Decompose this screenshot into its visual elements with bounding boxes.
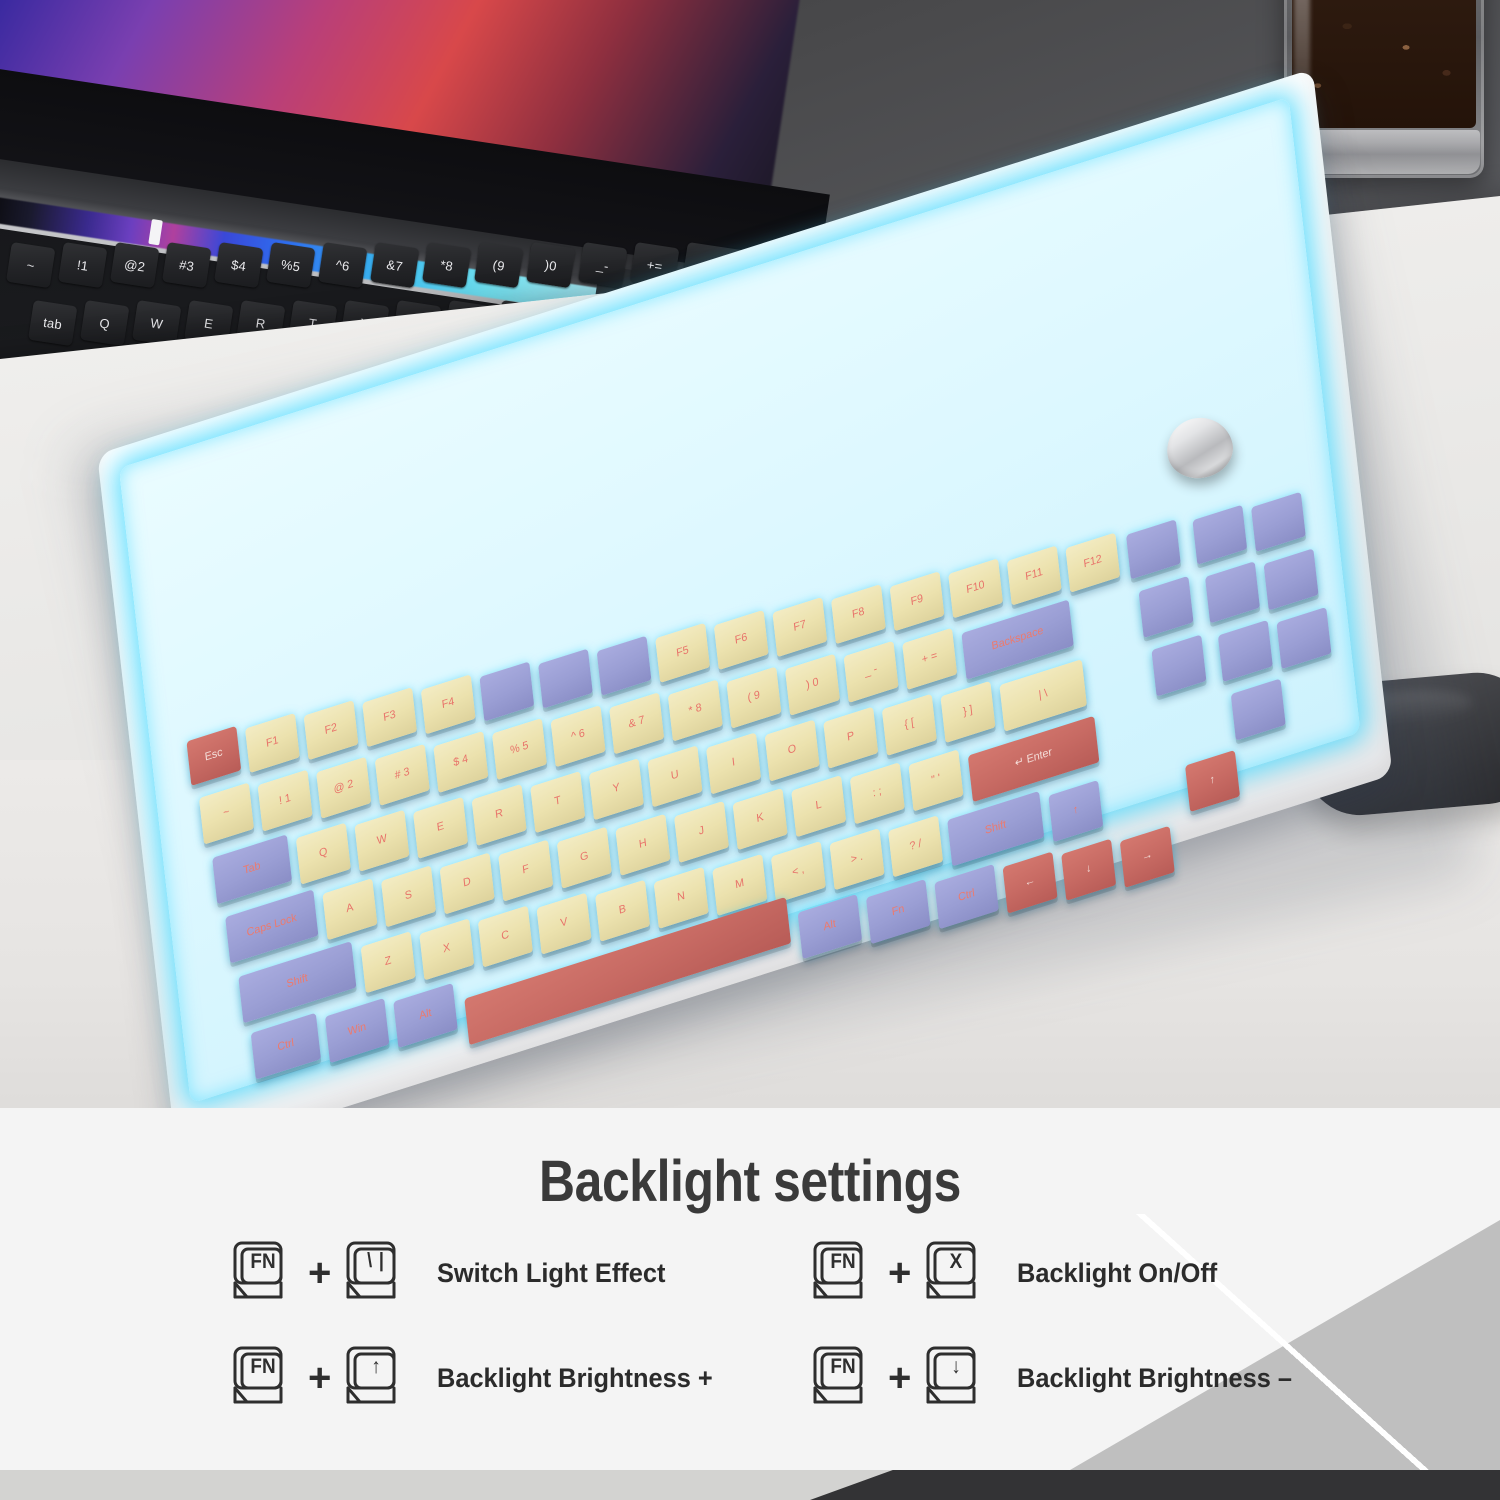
keycap-legend: R bbox=[495, 808, 504, 822]
shortcut-label-brightness-up: Backlight Brightness + bbox=[437, 1363, 713, 1394]
keycap-legend: Alt bbox=[823, 919, 837, 935]
laptop-key-label: E bbox=[203, 315, 214, 331]
keycap-legend: Ctrl bbox=[277, 1038, 295, 1055]
keycap-legend: $ 4 bbox=[453, 754, 469, 770]
x-keycap-icon[interactable]: X bbox=[925, 1240, 987, 1306]
keycap-legend: F1 bbox=[266, 735, 280, 751]
fn-keycap-icon[interactable]: FN bbox=[232, 1345, 294, 1411]
arrow-down-keycap-icon[interactable]: ↓ bbox=[925, 1345, 987, 1411]
plus-separator: + bbox=[308, 1253, 331, 1293]
keycap-legend: ! 1 bbox=[279, 793, 292, 808]
laptop-key-label: R bbox=[255, 315, 267, 331]
backslash-keycap-icon[interactable]: \ | bbox=[345, 1240, 407, 1306]
shortcut-row-brightness-up: FN + ↑ Backlight Brightness + bbox=[232, 1345, 731, 1411]
laptop-key[interactable]: $4 bbox=[214, 242, 263, 288]
keycap-legend: Q bbox=[319, 846, 329, 860]
keycap-legend: _ - bbox=[864, 664, 878, 680]
keycap-legend: ? / bbox=[909, 839, 922, 854]
shortcut-row-backlight-on-off: FN + X Backlight On/Off bbox=[812, 1240, 1230, 1306]
keycap-legend: Tab bbox=[243, 861, 261, 878]
keycap-legend: ↵ Enter bbox=[1014, 747, 1052, 770]
keycap-legend: A bbox=[346, 902, 354, 916]
laptop-key-label: @2 bbox=[123, 256, 146, 274]
laptop-key-label: $4 bbox=[230, 257, 247, 274]
laptop-key-label: &7 bbox=[386, 256, 404, 273]
keycap-legend: Ctrl bbox=[958, 888, 976, 905]
keycap-legend: Z bbox=[384, 955, 392, 969]
keycap-legend: P bbox=[847, 731, 855, 745]
fn-keycap-icon[interactable]: FN bbox=[232, 1240, 294, 1306]
keycap-legend: → bbox=[1141, 849, 1153, 864]
shortcut-label-switch-light-effect: Switch Light Effect bbox=[437, 1258, 665, 1289]
laptop-key[interactable]: *8 bbox=[422, 242, 471, 288]
keycap-legend: F3 bbox=[383, 709, 397, 725]
keycap-legend: | \ bbox=[1038, 688, 1048, 702]
keycap-legend: Alt bbox=[419, 1008, 433, 1024]
laptop-key-label: += bbox=[646, 256, 664, 273]
keycap-legend: X bbox=[443, 942, 451, 956]
keycap-legend: D bbox=[463, 876, 472, 890]
laptop-key[interactable]: (9 bbox=[474, 242, 523, 288]
keycap-legend: @ 2 bbox=[333, 779, 354, 797]
keycap-legend: V bbox=[560, 917, 568, 931]
keycap-legend: ^ 6 bbox=[571, 728, 586, 744]
laptop-key[interactable]: ^6 bbox=[318, 242, 367, 288]
keycap-legend: T bbox=[554, 795, 562, 809]
laptop-key[interactable]: Q bbox=[80, 300, 129, 346]
keycap-legend: ↑ bbox=[1209, 774, 1216, 787]
keycap-legend: F bbox=[522, 864, 530, 878]
laptop-key[interactable]: !1 bbox=[58, 242, 107, 288]
keycap-legend: ↑ bbox=[1072, 804, 1079, 817]
keycap-legend: " ' bbox=[931, 773, 941, 787]
shortcut-row-brightness-down: FN + ↓ Backlight Brightness – bbox=[812, 1345, 1310, 1411]
keycap-legend: Y bbox=[612, 782, 620, 796]
backlight-settings-panel: Backlight settings FN + \ | Switch Light… bbox=[0, 1108, 1500, 1500]
laptop-key-label: !1 bbox=[76, 257, 89, 274]
keycap-legend: B bbox=[618, 904, 626, 918]
fn-keycap-label: FN bbox=[235, 1250, 291, 1274]
keycap-legend: K bbox=[756, 812, 764, 826]
keycap-legend: # 3 bbox=[394, 767, 410, 783]
keycap-legend: F11 bbox=[1025, 567, 1044, 584]
keycap-legend: ↓ bbox=[1085, 863, 1092, 876]
keycap-legend: } ] bbox=[963, 705, 974, 720]
bottom-dark-bar bbox=[810, 1470, 1500, 1500]
laptop-key-label: %5 bbox=[280, 256, 301, 274]
laptop-key[interactable]: %5 bbox=[266, 242, 315, 288]
keycap-legend: ) 0 bbox=[806, 677, 820, 693]
keycap-legend: Fn bbox=[891, 904, 905, 920]
laptop-key-label: ^6 bbox=[335, 257, 351, 274]
plus-separator: + bbox=[888, 1358, 911, 1398]
keycap-legend: ( 9 bbox=[747, 690, 761, 706]
laptop-key-label: _- bbox=[596, 257, 610, 274]
keycap-legend: Shift bbox=[984, 819, 1006, 837]
keycap-legend: O bbox=[787, 743, 797, 757]
keycap-legend: W bbox=[376, 833, 387, 848]
keycap-legend: E bbox=[436, 821, 444, 835]
keycap-legend: I bbox=[731, 757, 735, 770]
plus-separator: + bbox=[888, 1253, 911, 1293]
keycap-legend: { [ bbox=[904, 717, 915, 732]
keycap-legend: + = bbox=[921, 651, 938, 667]
laptop-key-label: )0 bbox=[544, 257, 558, 274]
keycap-legend: F4 bbox=[441, 697, 455, 713]
keycap-legend: S bbox=[404, 889, 412, 903]
keycap-legend: Caps Lock bbox=[246, 913, 297, 940]
keycap-legend: > . bbox=[850, 851, 863, 866]
keycap-legend: F6 bbox=[734, 632, 748, 648]
keycap-legend: G bbox=[580, 851, 590, 865]
laptop-key-label: Q bbox=[99, 315, 111, 331]
keycap-legend: ~ bbox=[223, 807, 230, 821]
laptop-key[interactable]: &7 bbox=[370, 242, 419, 288]
keycap-legend: Esc bbox=[204, 747, 223, 764]
keycap-legend: J bbox=[698, 825, 705, 838]
keycap-legend: Win bbox=[347, 1022, 366, 1039]
laptop-key-label: #3 bbox=[178, 257, 195, 274]
keycap-legend: F8 bbox=[852, 606, 866, 622]
x-keycap-label: X bbox=[928, 1250, 984, 1274]
keycap-legend: < , bbox=[792, 864, 805, 879]
keycap-legend: : ; bbox=[872, 786, 882, 800]
keycap-legend: H bbox=[638, 838, 647, 852]
laptop-key[interactable]: tab bbox=[28, 300, 77, 346]
keycap-legend: C bbox=[501, 929, 510, 943]
fn-keycap-label: FN bbox=[235, 1355, 291, 1379]
fn-keycap-icon[interactable]: FN bbox=[812, 1240, 874, 1306]
laptop-key[interactable]: )0 bbox=[526, 242, 575, 288]
arrow-up-keycap-label: ↑ bbox=[348, 1355, 404, 1379]
keycap-legend: Shift bbox=[286, 973, 308, 991]
laptop-key-label: *8 bbox=[439, 257, 454, 274]
plus-separator: + bbox=[308, 1358, 331, 1398]
laptop-key-label: tab bbox=[42, 314, 63, 332]
shortcut-label-brightness-down: Backlight Brightness – bbox=[1017, 1363, 1292, 1394]
keycap-legend: M bbox=[735, 878, 745, 892]
keycap-legend: F7 bbox=[793, 619, 807, 635]
laptop-key[interactable]: @2 bbox=[110, 242, 159, 288]
keycap-legend: Backspace bbox=[991, 626, 1044, 654]
keycap-legend: ← bbox=[1024, 875, 1036, 890]
keyboard-product-photo: ~!1@2#3$4%5^6&7*8(9)0_-+=deletetabQWERTY… bbox=[0, 0, 1500, 1108]
keycap-legend: F2 bbox=[324, 722, 338, 738]
arrow-up-keycap-icon[interactable]: ↑ bbox=[345, 1345, 407, 1411]
coffee-grounds bbox=[1292, 0, 1476, 128]
product-image-root: ~!1@2#3$4%5^6&7*8(9)0_-+=deletetabQWERTY… bbox=[0, 0, 1500, 1500]
laptop-key-label: ~ bbox=[26, 257, 36, 273]
page-title: Backlight settings bbox=[105, 1148, 1395, 1215]
keycap-legend: % 5 bbox=[510, 740, 529, 757]
keycap-legend: F5 bbox=[676, 645, 690, 661]
keycap-legend: * 8 bbox=[688, 703, 702, 719]
arrow-down-keycap-label: ↓ bbox=[928, 1355, 984, 1379]
laptop-key[interactable]: #3 bbox=[162, 242, 211, 288]
keycap-legend: F9 bbox=[910, 593, 924, 609]
keycap-legend: F12 bbox=[1083, 554, 1102, 571]
keycap-legend: & 7 bbox=[628, 715, 645, 732]
keycap-legend: U bbox=[670, 769, 679, 783]
laptop-key-label: W bbox=[149, 315, 164, 332]
laptop-key[interactable]: _- bbox=[578, 242, 627, 288]
fn-keycap-label: FN bbox=[815, 1250, 871, 1274]
shortcut-row-switch-light-effect: FN + \ | Switch Light Effect bbox=[232, 1240, 680, 1306]
laptop-key-label: (9 bbox=[492, 257, 506, 274]
keycap-legend: F10 bbox=[966, 580, 985, 597]
backslash-keycap-label: \ | bbox=[348, 1250, 404, 1273]
keycap-legend: L bbox=[815, 799, 822, 813]
fn-keycap-icon[interactable]: FN bbox=[812, 1345, 874, 1411]
keycap-legend: N bbox=[677, 891, 686, 905]
laptop-key[interactable]: ~ bbox=[6, 242, 55, 288]
shortcut-label-backlight-on-off: Backlight On/Off bbox=[1017, 1258, 1217, 1289]
fn-keycap-label: FN bbox=[815, 1355, 871, 1379]
